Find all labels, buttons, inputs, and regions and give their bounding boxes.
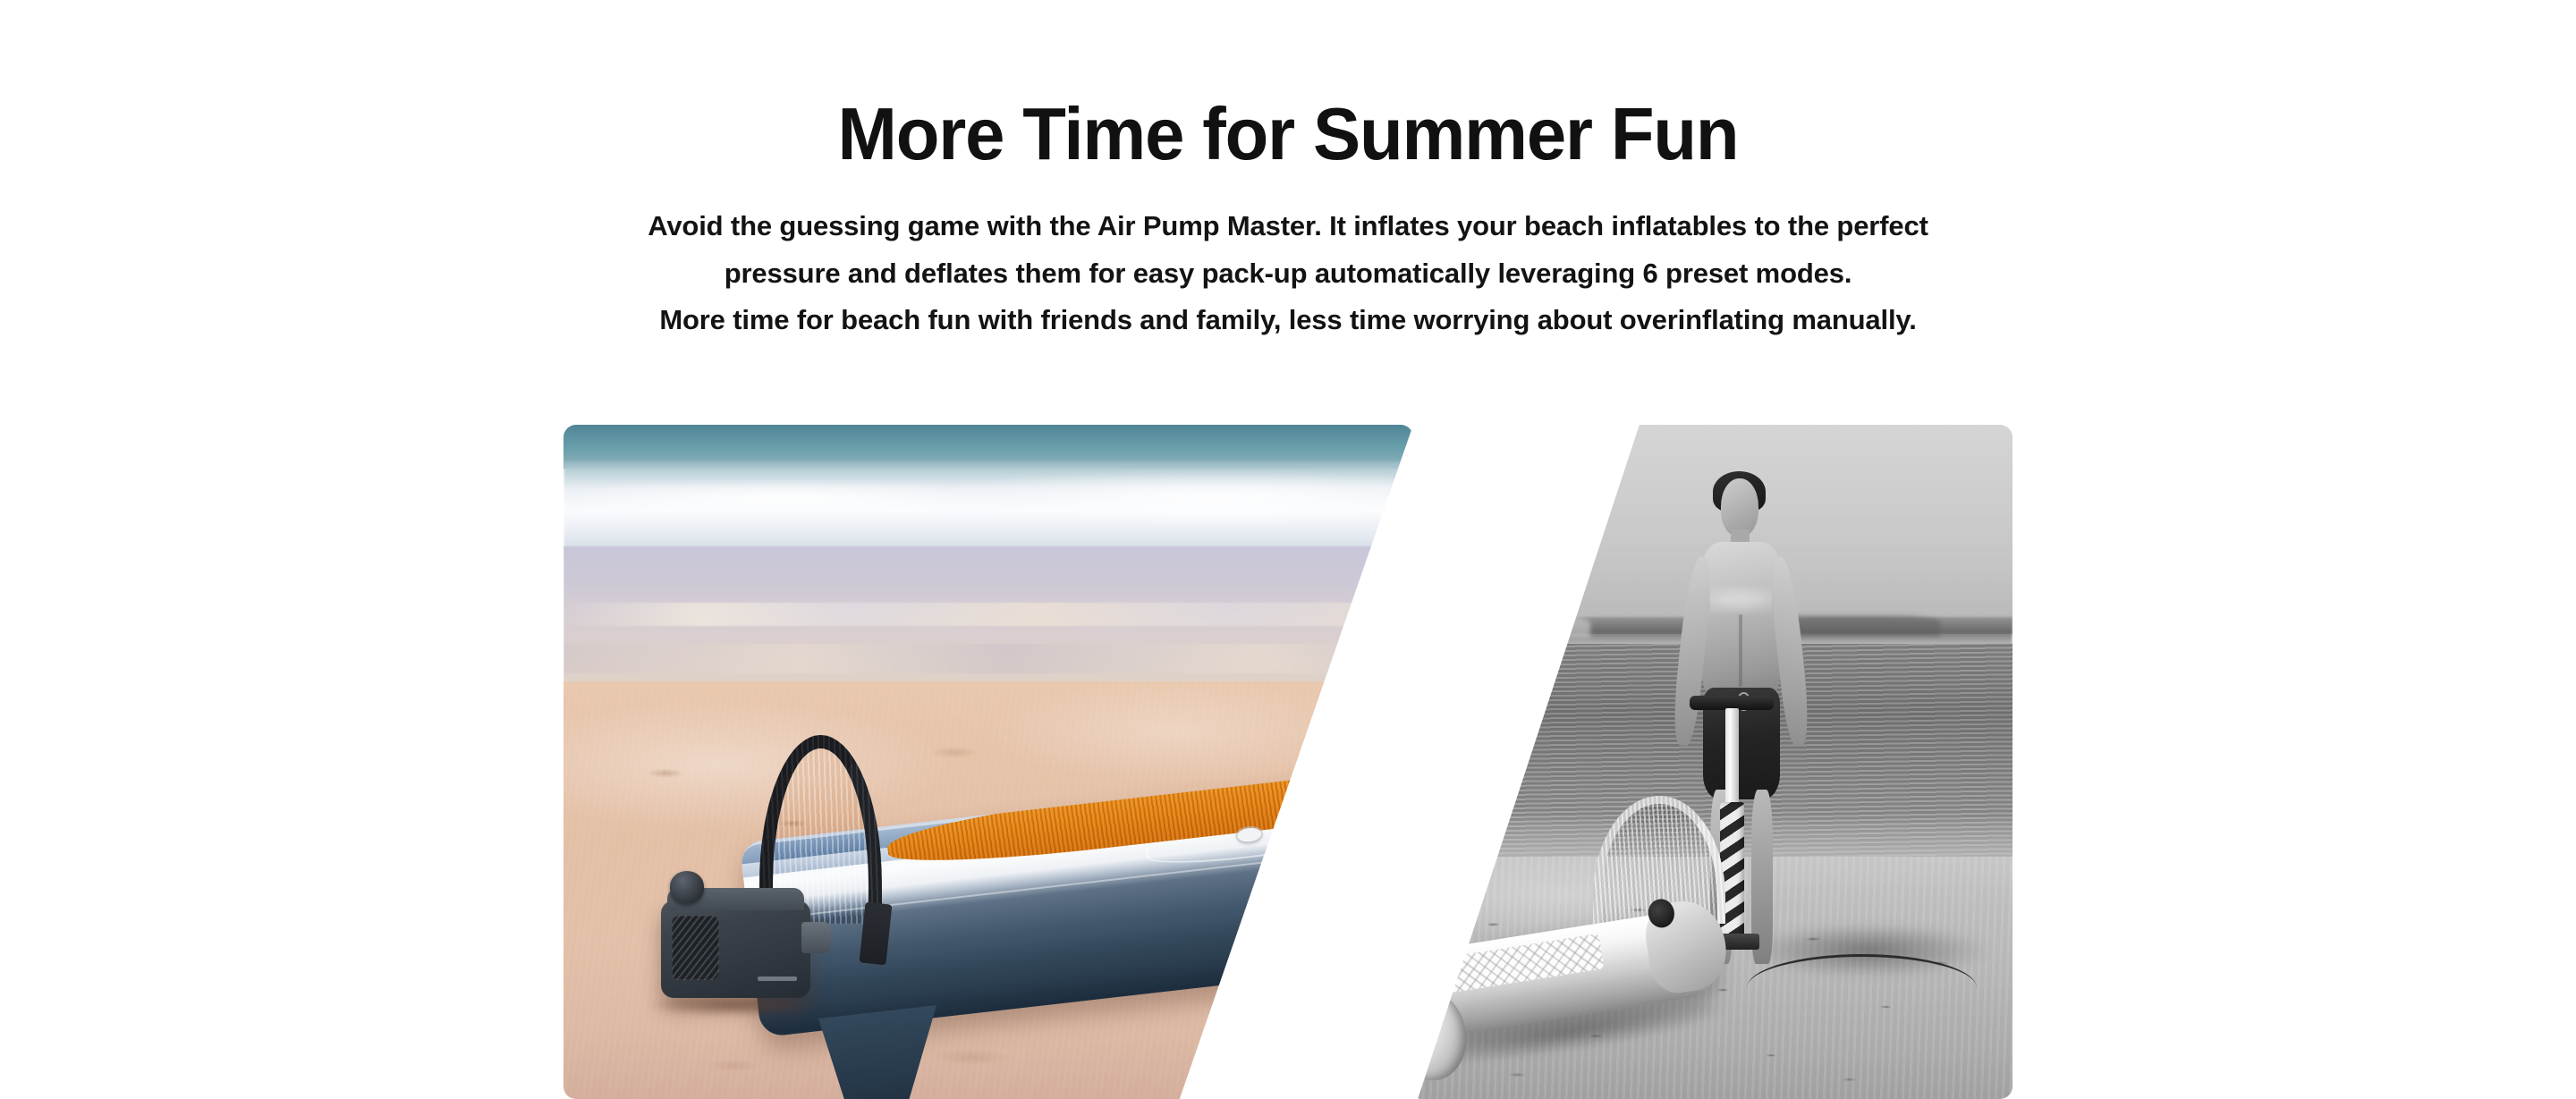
pump-vent-grille: [672, 916, 719, 980]
promo-subheading: Avoid the guessing game with the Air Pum…: [0, 203, 2576, 344]
subheading-line-1: Avoid the guessing game with the Air Pum…: [0, 203, 2576, 250]
page-title: More Time for Summer Fun: [52, 97, 2525, 171]
surf-foam: [563, 461, 1413, 556]
pump-hose-port: [801, 922, 831, 953]
right-scene: [1409, 425, 2012, 1099]
subheading-line-3: More time for beach fun with friends and…: [0, 297, 2576, 344]
wet-sand-band: [563, 546, 1413, 695]
subheading-line-2: pressure and deflates them for easy pack…: [0, 250, 2576, 298]
rolled-board-deck-texture: [1445, 934, 1604, 993]
pump-brand-mark: [758, 976, 796, 981]
person-head: [1721, 478, 1758, 537]
promo-text-block: More Time for Summer Fun Avoid the guess…: [0, 0, 2576, 344]
beach-pump-color-image: [563, 425, 1413, 1099]
summer-fun-promo-section: More Time for Summer Fun Avoid the guess…: [0, 0, 2576, 1099]
image-comparison-row: [563, 425, 2012, 1099]
person-torso: [1700, 542, 1782, 707]
manual-pump-bw-image: [1409, 425, 2012, 1099]
pump-control-knob: [670, 871, 704, 904]
electric-air-pump: [661, 900, 809, 998]
left-scene: [563, 425, 1413, 1099]
